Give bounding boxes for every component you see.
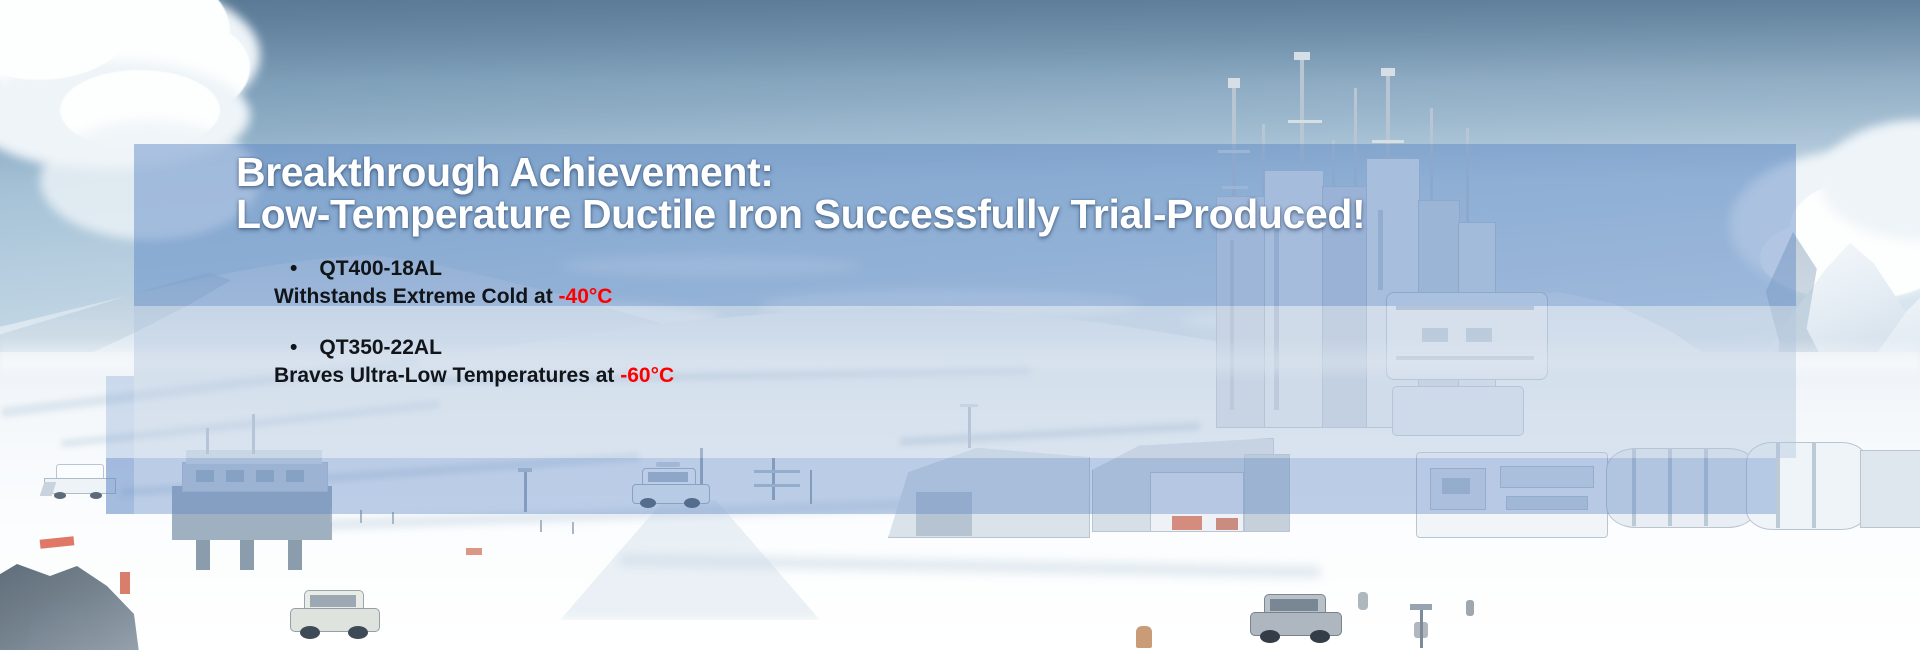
temperature-value: -60°C (620, 364, 674, 387)
overlay-band-footer (106, 458, 1776, 514)
product-grade-label: QT350-22AL (319, 335, 442, 361)
bullet-row-grade: • QT350-22AL (280, 335, 1280, 361)
vehicle-suv-right (1246, 590, 1344, 644)
bullet-row-grade: • QT400-18AL (280, 256, 1280, 282)
snowplow-vehicle (42, 464, 116, 498)
bullet-group-qt400: • QT400-18AL Withstands Extreme Cold at … (280, 256, 1280, 311)
vehicle-suv-left (286, 586, 382, 640)
bullet-row-claim: Withstands Extreme Cold at -40°C (274, 283, 1280, 311)
product-bullet-list: • QT400-18AL Withstands Extreme Cold at … (280, 256, 1280, 414)
banner-headline: Breakthrough Achievement: Low-Temperatur… (236, 154, 1836, 233)
bullet-group-qt350: • QT350-22AL Braves Ultra-Low Temperatur… (280, 335, 1280, 390)
bullet-point-icon: • (290, 335, 297, 361)
banner-image: Breakthrough Achievement: Low-Temperatur… (0, 0, 1920, 650)
headline-line-2: Low-Temperature Ductile Iron Successfull… (236, 196, 1836, 233)
bullet-row-claim: Braves Ultra-Low Temperatures at -60°C (274, 362, 1280, 390)
claim-text: Braves Ultra-Low Temperatures at (274, 364, 620, 387)
headline-line-1: Breakthrough Achievement: (236, 154, 1836, 191)
temperature-value: -40°C (559, 285, 613, 308)
bullet-point-icon: • (290, 256, 297, 282)
product-grade-label: QT400-18AL (319, 256, 442, 282)
claim-text: Withstands Extreme Cold at (274, 285, 559, 308)
